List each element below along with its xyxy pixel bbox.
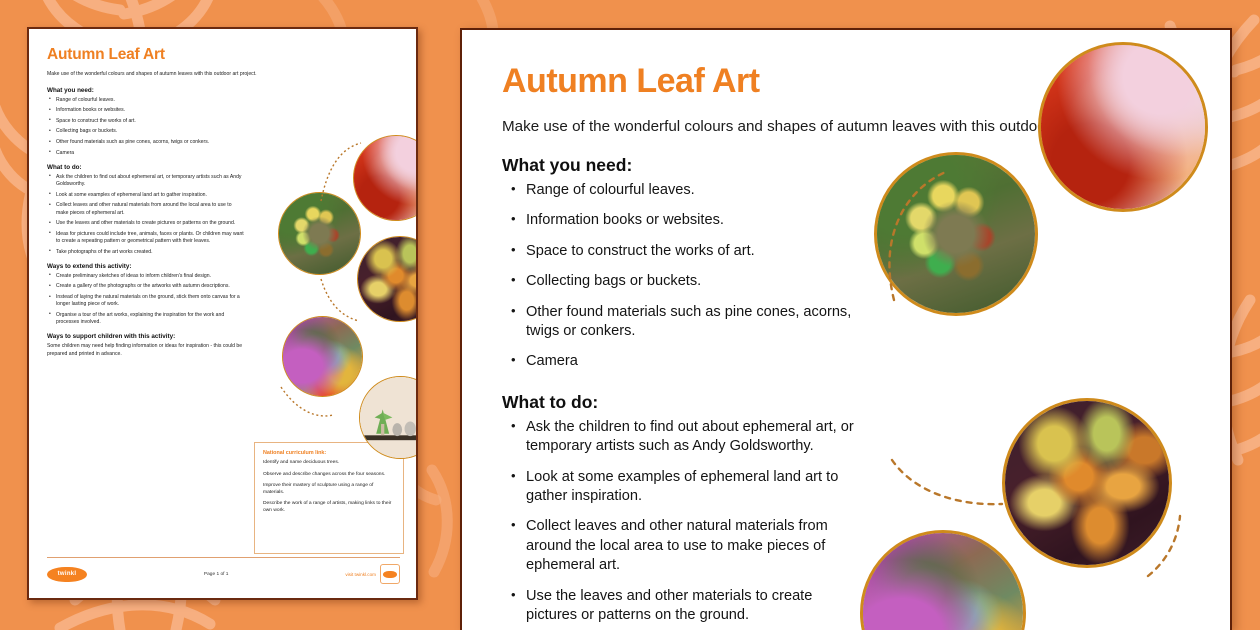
photo-pink-leaf-pile: [860, 530, 1026, 630]
thumbnail-list-extend: Create preliminary sketches of ideas to …: [47, 273, 245, 326]
photo-image: [863, 533, 1023, 630]
list-item: Information books or websites.: [502, 211, 867, 230]
curriculum-item: Improve their mastery of sculpture using…: [263, 483, 395, 496]
twinkl-logo-icon[interactable]: twinkl: [47, 567, 87, 582]
page-number-label: Page 1 of 1: [204, 572, 229, 577]
list-item: Take photographs of the art works create…: [47, 249, 245, 256]
list-item: Other found materials such as pine cones…: [47, 139, 245, 146]
list-item: Organise a tour of the art works, explai…: [47, 312, 245, 326]
photo-image: [358, 237, 418, 321]
list-item: Collecting bags or buckets.: [47, 128, 245, 135]
list-what-to-do: Ask the children to find out about ephem…: [502, 418, 867, 630]
list-item: Information books or websites.: [47, 107, 245, 114]
photo-red-maple-leaves: [1038, 42, 1208, 212]
thumbnail-heading-todo: What to do:: [47, 164, 400, 171]
list-item: Range of colourful leaves.: [502, 181, 867, 200]
photo-oak-leaves-soil: [1002, 398, 1172, 568]
photo-image: [877, 155, 1035, 313]
photo-image: [279, 193, 360, 274]
curriculum-link-box: National curriculum link: Identify and n…: [254, 442, 404, 554]
list-item: Ideas for pictures could include tree, a…: [47, 231, 245, 245]
list-item: Camera: [47, 150, 245, 157]
list-item: Instead of laying the natural materials …: [47, 294, 245, 308]
photo-image: [354, 136, 418, 220]
thumbnail-footer: twinkl Page 1 of 1 visit twinkl.com: [47, 557, 400, 584]
list-item: Ask the children to find out about ephem…: [47, 174, 245, 188]
thumbnail-list-todo: Ask the children to find out about ephem…: [47, 174, 245, 256]
list-item: Space to construct the works of art.: [47, 118, 245, 125]
visit-twinkl-link[interactable]: visit twinkl.com: [345, 572, 376, 577]
list-item: Look at some examples of ephemeral land …: [47, 192, 245, 199]
list-item: Use the leaves and other materials to cr…: [47, 220, 245, 227]
photo-image: [360, 377, 418, 458]
curriculum-item: Observe and describe changes across the …: [263, 472, 395, 479]
list-item: Collect leaves and other natural materia…: [47, 202, 245, 216]
thumbnail-heading-need: What you need:: [47, 87, 400, 94]
curriculum-item: Identify and name deciduous trees.: [263, 460, 395, 467]
photo-image: [1041, 45, 1205, 209]
list-item: Range of colourful leaves.: [47, 97, 245, 104]
thumbnail-title: Autumn Leaf Art: [47, 46, 400, 64]
photo-pink-leaf-pile: [282, 316, 363, 397]
document-preview-page[interactable]: Autumn Leaf Art Make use of the wonderfu…: [460, 28, 1232, 630]
photo-red-maple-leaves: [353, 135, 418, 221]
photo-leaves-and-stones: [359, 376, 418, 459]
footer-right-group: visit twinkl.com: [345, 564, 400, 584]
list-item: Use the leaves and other materials to cr…: [502, 587, 867, 626]
thumbnail-support-paragraph: Some children may need help finding info…: [47, 343, 247, 357]
list-item: Other found materials such as pine cones…: [502, 303, 867, 342]
list-item: Collect leaves and other natural materia…: [502, 517, 867, 575]
list-item: Space to construct the works of art.: [502, 242, 867, 261]
list-item: Camera: [502, 352, 867, 371]
twinkl-badge-icon: [380, 564, 400, 584]
thumbnail-subtitle: Make use of the wonderful colours and sh…: [47, 71, 400, 78]
list-item: Collecting bags or buckets.: [502, 272, 867, 291]
photo-image: [1005, 401, 1169, 565]
curriculum-item: Describe the work of a range of artists,…: [263, 501, 395, 514]
photo-moss-leaf-spiral: [278, 192, 361, 275]
document-thumbnail-page[interactable]: Autumn Leaf Art Make use of the wonderfu…: [27, 27, 418, 600]
photo-oak-leaves-soil: [357, 236, 418, 322]
list-item: Ask the children to find out about ephem…: [502, 418, 867, 457]
photo-moss-leaf-spiral: [874, 152, 1038, 316]
photo-image: [283, 317, 362, 396]
list-item: Look at some examples of ephemeral land …: [502, 468, 867, 507]
thumbnail-list-need: Range of colourful leaves. Information b…: [47, 97, 245, 157]
list-what-you-need: Range of colourful leaves. Information b…: [502, 181, 867, 372]
list-item: Create a gallery of the photographs or t…: [47, 283, 245, 290]
list-item: Create preliminary sketches of ideas to …: [47, 273, 245, 280]
